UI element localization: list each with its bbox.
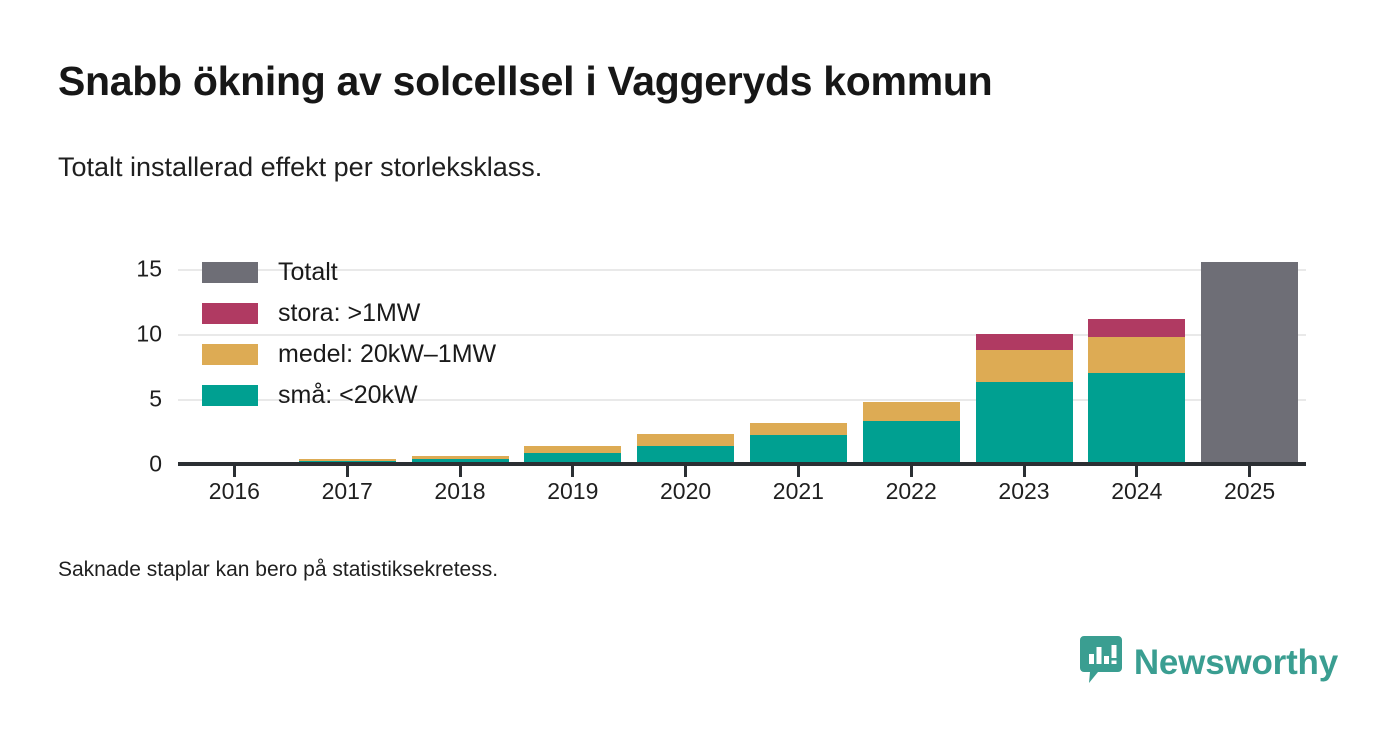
chart-page: Snabb ökning av solcellsel i Vaggeryds k… [0, 0, 1400, 745]
x-axis-tick-label: 2025 [1190, 478, 1310, 505]
y-axis-tick-label: 15 [136, 256, 162, 283]
bar-segment[interactable] [1088, 337, 1185, 373]
x-axis-tick-mark [346, 466, 349, 477]
bar-chart-bubble-icon [1080, 636, 1122, 689]
x-axis-tick-label: 2018 [400, 478, 520, 505]
legend-swatch [202, 344, 258, 365]
legend-swatch [202, 303, 258, 324]
bar-segment[interactable] [1088, 319, 1185, 337]
legend-item-1[interactable]: stora: >1MW [202, 293, 496, 334]
y-axis-tick-label: 0 [149, 451, 162, 478]
x-axis-tick-label: 2017 [287, 478, 407, 505]
y-axis-tick-label: 10 [136, 321, 162, 348]
legend-label: små: <20kW [278, 381, 418, 410]
x-axis-tick-mark [233, 466, 236, 477]
y-axis-tick-label: 5 [149, 386, 162, 413]
bar-group-2023[interactable] [976, 334, 1073, 464]
chart-canvas: 051015 201620172018201920202021202220232… [0, 0, 1400, 530]
x-axis-tick-label: 2024 [1077, 478, 1197, 505]
bar-segment[interactable] [863, 421, 960, 464]
legend-item-2[interactable]: medel: 20kW–1MW [202, 334, 496, 375]
x-axis-tick-mark [910, 466, 913, 477]
x-axis-tick-label: 2020 [626, 478, 746, 505]
bar-segment[interactable] [750, 423, 847, 436]
legend-label: stora: >1MW [278, 299, 420, 328]
chart-legend: Totaltstora: >1MWmedel: 20kW–1MWsmå: <20… [202, 252, 496, 416]
x-axis-tick-mark [684, 466, 687, 477]
bar-segment[interactable] [976, 382, 1073, 464]
x-axis-tick-mark [1023, 466, 1026, 477]
bar-segment[interactable] [1088, 373, 1185, 464]
legend-swatch [202, 262, 258, 283]
bar-group-2024[interactable] [1088, 319, 1185, 464]
legend-label: Totalt [278, 258, 338, 287]
bar-segment[interactable] [750, 435, 847, 464]
x-axis-tick-mark [571, 466, 574, 477]
x-axis-tick-mark [1248, 466, 1251, 477]
x-axis-tick-label: 2019 [513, 478, 633, 505]
bar-segment[interactable] [976, 334, 1073, 350]
legend-label: medel: 20kW–1MW [278, 340, 496, 369]
x-axis-tick-label: 2016 [174, 478, 294, 505]
logo-wordmark: Newsworthy [1134, 643, 1338, 683]
bar-segment[interactable] [637, 434, 734, 446]
bar-segment[interactable] [863, 402, 960, 420]
bar-group-2025[interactable] [1201, 262, 1298, 464]
legend-item-3[interactable]: små: <20kW [202, 375, 496, 416]
bar-group-2022[interactable] [863, 402, 960, 464]
bar-group-2020[interactable] [637, 434, 734, 464]
x-axis-tick-label: 2021 [738, 478, 858, 505]
chart-note: Saknade staplar kan bero på statistiksek… [58, 558, 498, 582]
bar-group-2021[interactable] [750, 423, 847, 465]
legend-swatch [202, 385, 258, 406]
bar-segment[interactable] [976, 350, 1073, 382]
bar-segment[interactable] [524, 446, 621, 453]
x-axis-tick-label: 2022 [851, 478, 971, 505]
legend-item-0[interactable]: Totalt [202, 252, 496, 293]
x-axis-tick-mark [459, 466, 462, 477]
newsworthy-logo: Newsworthy [1080, 636, 1338, 689]
x-axis-tick-label: 2023 [964, 478, 1084, 505]
x-axis-tick-mark [797, 466, 800, 477]
x-axis-tick-mark [1135, 466, 1138, 477]
bar-segment[interactable] [1201, 262, 1298, 464]
